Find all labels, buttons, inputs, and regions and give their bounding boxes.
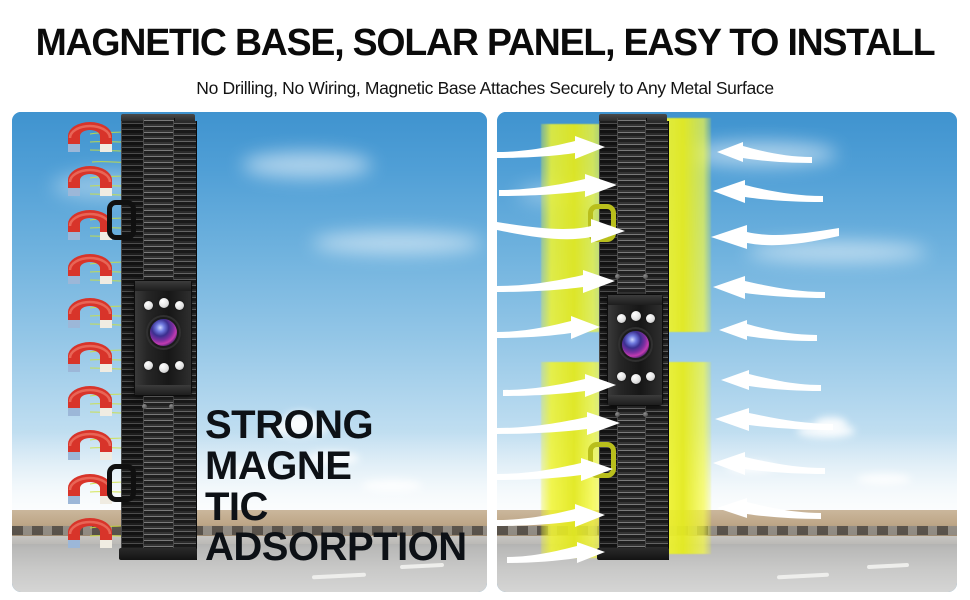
sunlight-arrow-icon xyxy=(713,276,825,302)
ir-led xyxy=(175,301,184,310)
camera-top-band xyxy=(608,295,662,305)
sunlight-arrow-icon xyxy=(497,504,607,530)
horseshoe-magnet-icon xyxy=(60,518,120,552)
horseshoe-magnet-icon xyxy=(60,430,120,464)
sunlight-arrow-icon xyxy=(499,174,619,200)
page-title: MAGNETIC BASE, SOLAR PANEL, EASY TO INST… xyxy=(7,22,962,65)
mount-screw xyxy=(142,404,147,409)
sunlight-arrow-icon xyxy=(507,542,607,566)
sunlight-arrow-icon xyxy=(713,452,825,478)
ir-led xyxy=(617,314,626,323)
cloud xyxy=(242,152,372,178)
camera-lens xyxy=(150,319,177,346)
sunlight-arrow-icon xyxy=(717,498,821,522)
sunlight-arrow-icon xyxy=(497,136,607,162)
ir-led xyxy=(144,301,153,310)
page-subtitle: No Drilling, No Wiring, Magnetic Base At… xyxy=(0,78,970,99)
ir-led xyxy=(159,363,169,373)
sunlight-arrow-icon xyxy=(497,412,622,438)
horseshoe-magnet-icon xyxy=(60,122,120,156)
sunlight-arrow-icon xyxy=(503,374,618,400)
sunlight-arrow-icon xyxy=(497,216,627,246)
horseshoe-magnet-icon xyxy=(60,254,120,288)
mounting-hook xyxy=(107,200,136,240)
feature-panel-magnetic: STRONG MAGNE TIC ADSORPTION xyxy=(12,112,487,592)
ir-led xyxy=(631,374,641,384)
mount-screw xyxy=(643,274,648,279)
ir-led xyxy=(159,298,169,308)
camera-bottom-band xyxy=(135,385,191,395)
mount-screw xyxy=(169,404,174,409)
base-foot xyxy=(597,548,669,560)
sunlight-arrow-icon xyxy=(713,180,823,206)
ir-led xyxy=(646,314,655,323)
horseshoe-magnet-icon xyxy=(60,342,120,376)
base-foot xyxy=(119,548,197,560)
product-feature-banner: MAGNETIC BASE, SOLAR PANEL, EASY TO INST… xyxy=(0,0,970,600)
camera-module xyxy=(134,280,192,396)
sunlight-arrow-icon xyxy=(497,458,615,484)
camera-lens xyxy=(622,331,649,358)
feature-panel-solar: MULTI-SIDED SOLAR PANEL xyxy=(497,112,957,592)
panel-caption-left: STRONG MAGNE TIC ADSORPTION xyxy=(205,405,487,568)
camera-top-band xyxy=(135,281,191,291)
horseshoe-magnet-icon xyxy=(60,166,120,200)
sunlight-arrow-icon xyxy=(715,408,833,434)
ir-led xyxy=(631,311,641,321)
sunlight-arrow-icon xyxy=(711,222,839,252)
ir-led xyxy=(175,361,184,370)
sunlight-arrow-icon xyxy=(497,316,602,342)
solar-security-camera xyxy=(117,112,199,560)
horseshoe-magnet-icon xyxy=(60,298,120,332)
mounting-hook xyxy=(107,464,136,502)
sunlight-arrow-icon xyxy=(721,370,821,394)
sunlight-arrow-icon xyxy=(497,270,617,296)
header: MAGNETIC BASE, SOLAR PANEL, EASY TO INST… xyxy=(0,0,970,110)
ir-led xyxy=(646,372,655,381)
cloud xyxy=(312,232,482,254)
mount-screw xyxy=(643,412,648,417)
ir-led xyxy=(617,372,626,381)
sunlight-arrow-icon xyxy=(717,142,812,166)
ir-led xyxy=(144,361,153,370)
horseshoe-magnet-icon xyxy=(60,386,120,420)
sunlight-arrow-icon xyxy=(719,320,817,344)
